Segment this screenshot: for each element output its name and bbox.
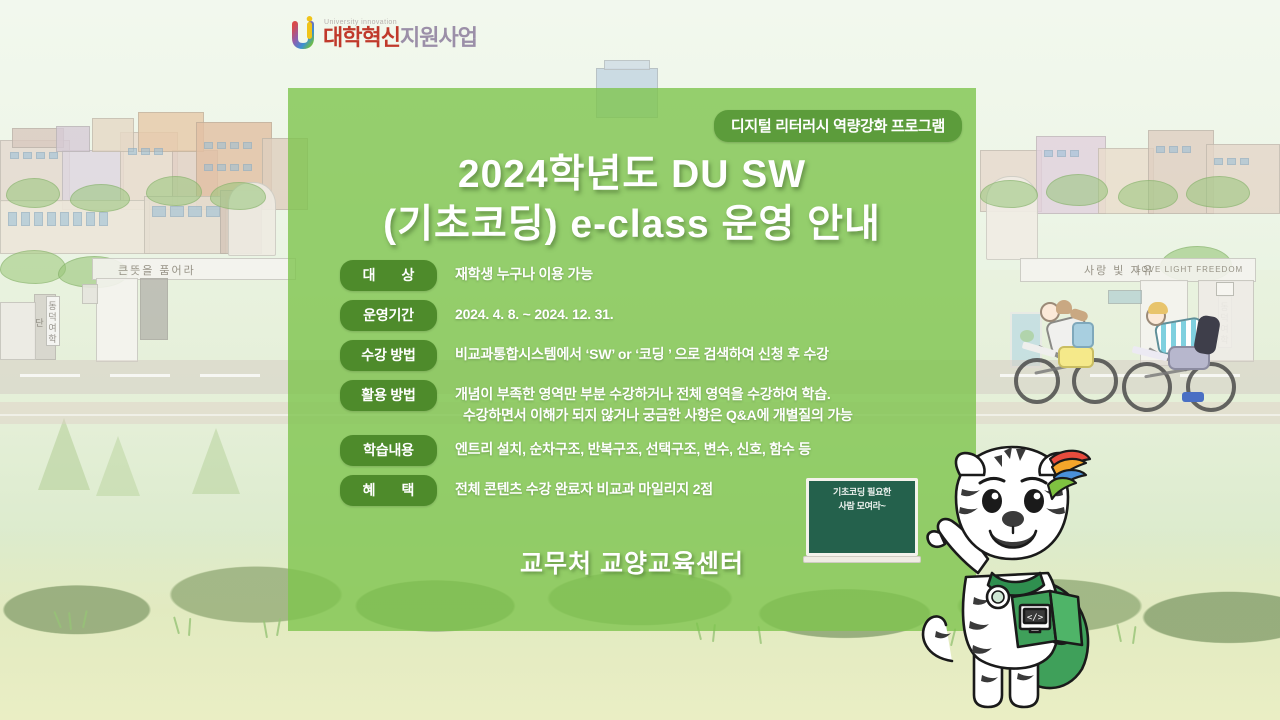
info-value-period: 2024. 4. 8. ~ 2024. 12. 31. — [455, 300, 613, 325]
info-row-enrollment: 수강 방법 비교과통합시스템에서 ‘SW’ or ‘코딩 ’ 으로 검색하여 신… — [340, 340, 960, 371]
info-value-target: 재학생 누구나 이용 가능 — [455, 260, 593, 285]
svg-text:</>: </> — [1027, 613, 1044, 623]
gate-left-tablet: 동덕여학단 — [46, 296, 60, 346]
info-label-period: 운영기간 — [340, 300, 437, 331]
white-tiger-mascot: </> — [900, 445, 1130, 720]
info-value-target-line1: 재학생 누구나 이용 가능 — [455, 266, 593, 282]
info-value-usage: 개념이 부족한 영역만 부분 수강하거나 전체 영역을 수강하여 학습. 수강하… — [455, 380, 853, 425]
info-value-period-line1: 2024. 4. 8. ~ 2024. 12. 31. — [455, 306, 613, 322]
cyclist-right — [1122, 306, 1252, 418]
program-badge: 디지털 리터러시 역량강화 프로그램 — [714, 110, 962, 142]
logo-mark-icon — [292, 16, 318, 50]
gate-right-sign-en: LOVE LIGHT FREEDOM — [1136, 265, 1243, 274]
info-value-enrollment: 비교과통합시스템에서 ‘SW’ or ‘코딩 ’ 으로 검색하여 신청 후 수강 — [455, 340, 829, 365]
info-label-usage: 활용 방법 — [340, 380, 437, 411]
logo-korean-text: 대학혁신지원사업 — [323, 27, 477, 49]
info-row-curriculum: 학습내용 엔트리 설치, 순차구조, 반복구조, 선택구조, 변수, 신호, 함… — [340, 435, 960, 466]
blackboard-line-2: 사람 모여라~ — [812, 500, 912, 514]
title-line-1: 2024학년도 DU SW — [458, 153, 806, 196]
info-label-benefit: 혜 택 — [340, 475, 437, 506]
info-row-period: 운영기간 2024. 4. 8. ~ 2024. 12. 31. — [340, 300, 960, 331]
blackboard-line-1: 기초코딩 필요한 — [812, 486, 912, 500]
info-label-target: 대 상 — [340, 260, 437, 291]
title-line-2: (기초코딩) e-class 운영 안내 — [288, 200, 976, 250]
cyclist-left — [1014, 300, 1134, 410]
info-value-curriculum: 엔트리 설치, 순차구조, 반복구조, 선택구조, 변수, 신호, 함수 등 — [455, 435, 811, 460]
info-value-curriculum-line1: 엔트리 설치, 순차구조, 반복구조, 선택구조, 변수, 신호, 함수 등 — [455, 441, 811, 457]
program-badge-container: 디지털 리터러시 역량강화 프로그램 — [714, 110, 962, 142]
gate-left-sign: 큰뜻을 품어라 — [118, 262, 196, 278]
tiger-book: </> — [1012, 591, 1082, 647]
poster-root: 큰뜻을 품어라 동덕여학단 사랑 빛 자유 LOVE LIGHT FREEDOM… — [0, 0, 1280, 720]
info-row-target: 대 상 재학생 누구나 이용 가능 — [340, 260, 960, 291]
university-innovation-logo: University innovation 대학혁신지원사업 — [292, 16, 477, 50]
info-value-usage-line2: 수강하면서 이해가 되지 않거나 궁금한 사항은 Q&A에 개별질의 가능 — [463, 405, 853, 426]
info-value-benefit: 전체 콘텐츠 수강 완료자 비교과 마일리지 2점 — [455, 475, 713, 500]
logo-korean-part2: 지원사업 — [400, 25, 477, 50]
info-value-enrollment-line1: 비교과통합시스템에서 ‘SW’ or ‘코딩 ’ 으로 검색하여 신청 후 수강 — [455, 346, 829, 362]
logo-korean-part1: 대학혁신 — [323, 25, 400, 50]
info-label-curriculum: 학습내용 — [340, 435, 437, 466]
blackboard-text: 기초코딩 필요한 사람 모여라~ — [812, 486, 912, 548]
info-value-usage-line1: 개념이 부족한 영역만 부분 수강하거나 전체 영역을 수강하여 학습. — [455, 386, 831, 402]
info-value-benefit-line1: 전체 콘텐츠 수강 완료자 비교과 마일리지 2점 — [455, 481, 713, 497]
info-label-enrollment: 수강 방법 — [340, 340, 437, 371]
page-title: 2024학년도 DU SW (기초코딩) e-class 운영 안내 — [288, 150, 976, 250]
info-row-usage: 활용 방법 개념이 부족한 영역만 부분 수강하거나 전체 영역을 수강하여 학… — [340, 380, 960, 425]
